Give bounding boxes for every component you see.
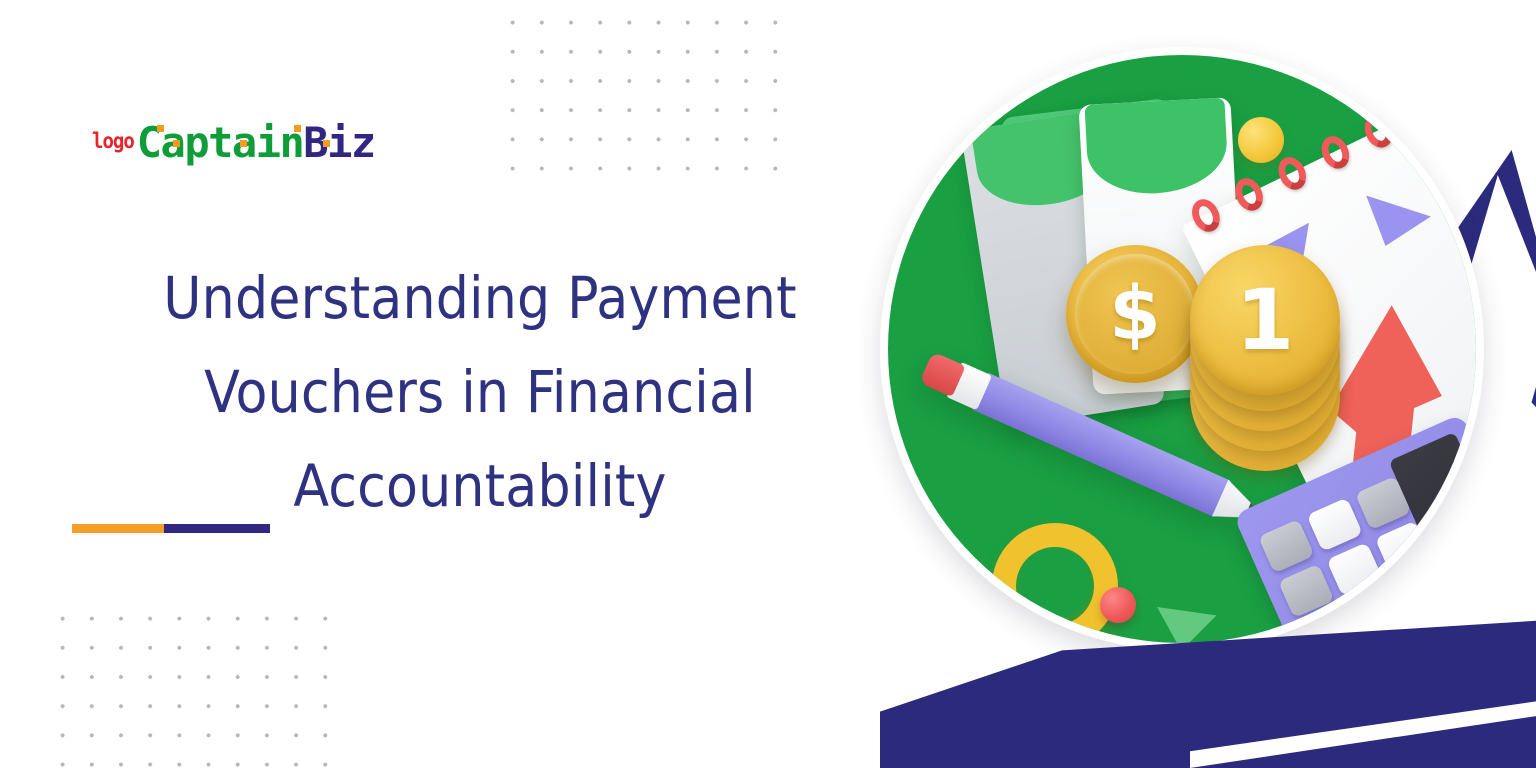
title-line-2: Vouchers in Financial bbox=[120, 346, 840, 440]
logo-pixel-accent bbox=[240, 140, 247, 147]
notepad-ring bbox=[1273, 152, 1311, 194]
title-accent-bar bbox=[72, 524, 270, 533]
accent-bar-navy-segment bbox=[164, 524, 270, 533]
notepad-ring bbox=[1316, 131, 1354, 173]
green-triangle bbox=[1152, 607, 1217, 643]
yellow-sphere bbox=[1238, 117, 1284, 163]
dollar-coin-symbol: $ bbox=[1066, 245, 1204, 383]
dollar-coin: $ bbox=[1066, 245, 1204, 383]
coin-stack: 1 bbox=[1188, 245, 1348, 475]
page-title: Understanding Payment Vouchers in Financ… bbox=[120, 252, 840, 534]
calculator-key bbox=[1326, 542, 1382, 596]
accent-bar-orange-segment bbox=[72, 524, 164, 533]
logo-mark-text: logo bbox=[92, 131, 134, 152]
hero-illustration: $ 1 bbox=[860, 0, 1536, 768]
logo-pixel-accent bbox=[173, 140, 180, 147]
blog-banner: logo CaptainBiz Understanding Payment Vo… bbox=[0, 0, 1536, 768]
calculator-key bbox=[1278, 564, 1334, 618]
logo-pixel-accent bbox=[323, 140, 330, 147]
notepad-ring bbox=[1230, 173, 1268, 215]
logo-pixel-accent bbox=[294, 125, 301, 132]
title-line-3: Accountability bbox=[120, 440, 840, 534]
calculator-key bbox=[1306, 497, 1362, 551]
logo-word-biz: Biz bbox=[303, 118, 374, 167]
coin-stack-symbol: 1 bbox=[1190, 245, 1340, 395]
dot-grid-top-right bbox=[498, 8, 788, 173]
red-sphere bbox=[1100, 587, 1136, 623]
yellow-torus-ring bbox=[992, 523, 1118, 643]
logo-wordmark: CaptainBiz bbox=[137, 122, 375, 164]
green-circle-backdrop: $ 1 bbox=[888, 55, 1476, 643]
title-line-1: Understanding Payment bbox=[120, 252, 840, 346]
coin-stack-top-coin: 1 bbox=[1190, 245, 1340, 395]
logo-pixel-accent bbox=[157, 125, 164, 132]
dot-grid-bottom-left bbox=[48, 604, 338, 768]
brand-logo[interactable]: logo CaptainBiz bbox=[92, 131, 375, 164]
calculator-key bbox=[1258, 519, 1314, 573]
